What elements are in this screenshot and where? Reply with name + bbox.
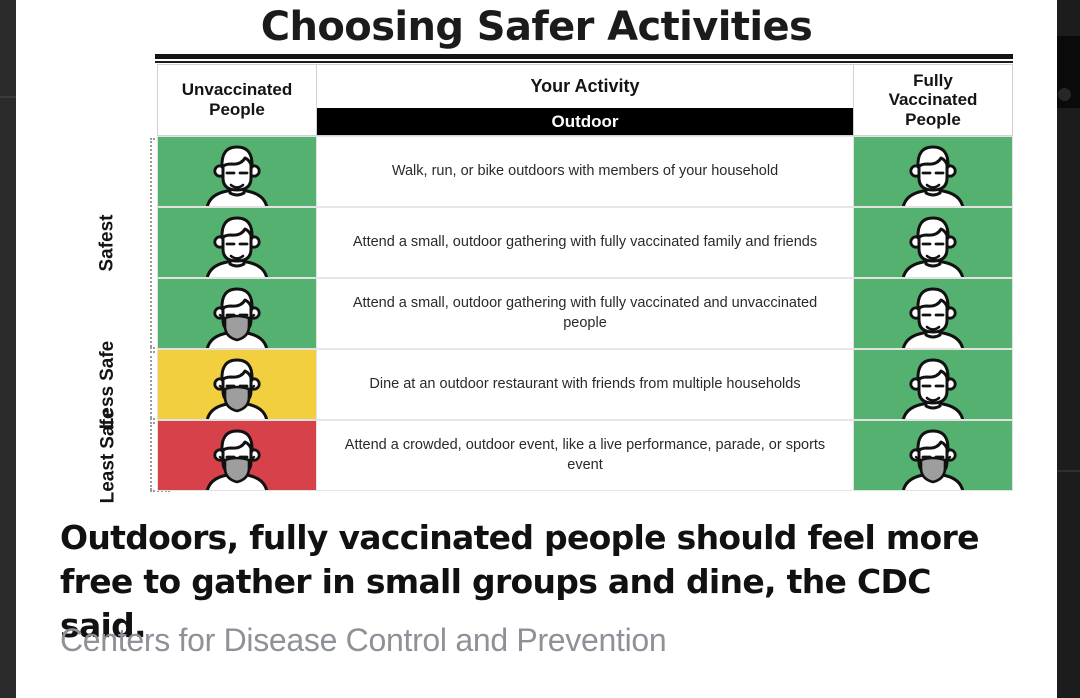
column-header-unvaccinated: Unvaccinated People bbox=[157, 64, 317, 136]
caption-line-1: Outdoors, fully vaccinated people should… bbox=[60, 516, 1020, 560]
unvaccinated-cell bbox=[157, 278, 317, 349]
severity-axis: Safest Less Safe Least Safe bbox=[76, 136, 156, 492]
person-unmasked-icon bbox=[897, 351, 969, 420]
vaccinated-cell bbox=[853, 207, 1013, 278]
unvaccinated-cell bbox=[157, 136, 317, 207]
activities-table: Unvaccinated People Your Activity Outdoo… bbox=[157, 64, 1013, 491]
least-safe-word-1: Least bbox=[97, 454, 119, 504]
page-title: Choosing Safer Activities bbox=[16, 4, 1057, 50]
vaccinated-cell bbox=[853, 349, 1013, 420]
header-rule-thick bbox=[155, 54, 1013, 59]
header-rule-thin bbox=[155, 61, 1013, 63]
activity-description: Attend a crowded, outdoor event, like a … bbox=[317, 420, 853, 491]
unvaccinated-header-line1: Unvaccinated bbox=[182, 80, 293, 99]
activity-description: Attend a small, outdoor gathering with f… bbox=[317, 278, 853, 349]
table-row: Walk, run, or bike outdoors with members… bbox=[157, 136, 1013, 207]
column-header-activity: Your Activity Outdoor bbox=[317, 64, 853, 136]
activity-description: Walk, run, or bike outdoors with members… bbox=[317, 136, 853, 207]
chrome-knob-icon[interactable] bbox=[1058, 88, 1071, 101]
least-safe-word-2: Safe bbox=[97, 409, 119, 449]
unvaccinated-cell bbox=[157, 420, 317, 491]
activity-description: Dine at an outdoor restaurant with frien… bbox=[317, 349, 853, 420]
unvaccinated-header-line2: People bbox=[209, 100, 265, 119]
person-masked-icon bbox=[201, 422, 273, 491]
table-row: Attend a small, outdoor gathering with f… bbox=[157, 207, 1013, 278]
chrome-left-seam bbox=[0, 96, 16, 98]
table-body: Walk, run, or bike outdoors with members… bbox=[157, 136, 1013, 491]
less-safe-word-2: Safe bbox=[97, 340, 119, 380]
vaccinated-cell bbox=[853, 278, 1013, 349]
activity-description: Attend a small, outdoor gathering with f… bbox=[317, 207, 853, 278]
vaccinated-header-line2: Vaccinated bbox=[889, 90, 978, 109]
caption-source: Centers for Disease Control and Preventi… bbox=[60, 622, 1020, 659]
person-unmasked-icon bbox=[897, 209, 969, 278]
unvaccinated-cell bbox=[157, 349, 317, 420]
person-masked-icon bbox=[897, 422, 969, 491]
chrome-right-seam bbox=[1057, 470, 1080, 472]
table-header-row: Unvaccinated People Your Activity Outdoo… bbox=[157, 64, 1013, 136]
person-unmasked-icon bbox=[897, 138, 969, 207]
person-unmasked-icon bbox=[201, 138, 273, 207]
person-unmasked-icon bbox=[201, 209, 273, 278]
person-masked-icon bbox=[201, 351, 273, 420]
activity-setting-band: Outdoor bbox=[317, 108, 853, 135]
vaccinated-header-line3: People bbox=[905, 110, 961, 129]
table-row: Dine at an outdoor restaurant with frien… bbox=[157, 349, 1013, 420]
severity-label-safest: Safest bbox=[76, 136, 140, 349]
infographic-page: Choosing Safer Activities Safest Less Sa… bbox=[16, 0, 1057, 698]
window-chrome-right bbox=[1057, 0, 1080, 698]
severity-label-least-safe: Least Safe bbox=[76, 420, 140, 492]
person-unmasked-icon bbox=[897, 280, 969, 349]
vaccinated-cell bbox=[853, 136, 1013, 207]
vaccinated-header-line1: Fully bbox=[913, 71, 953, 90]
person-masked-icon bbox=[201, 280, 273, 349]
table-row: Attend a small, outdoor gathering with f… bbox=[157, 278, 1013, 349]
activity-header-title: Your Activity bbox=[317, 65, 853, 108]
table-row: Attend a crowded, outdoor event, like a … bbox=[157, 420, 1013, 491]
column-header-vaccinated: Fully Vaccinated People bbox=[853, 64, 1013, 136]
window-chrome-left bbox=[0, 0, 16, 698]
unvaccinated-cell bbox=[157, 207, 317, 278]
vaccinated-cell bbox=[853, 420, 1013, 491]
